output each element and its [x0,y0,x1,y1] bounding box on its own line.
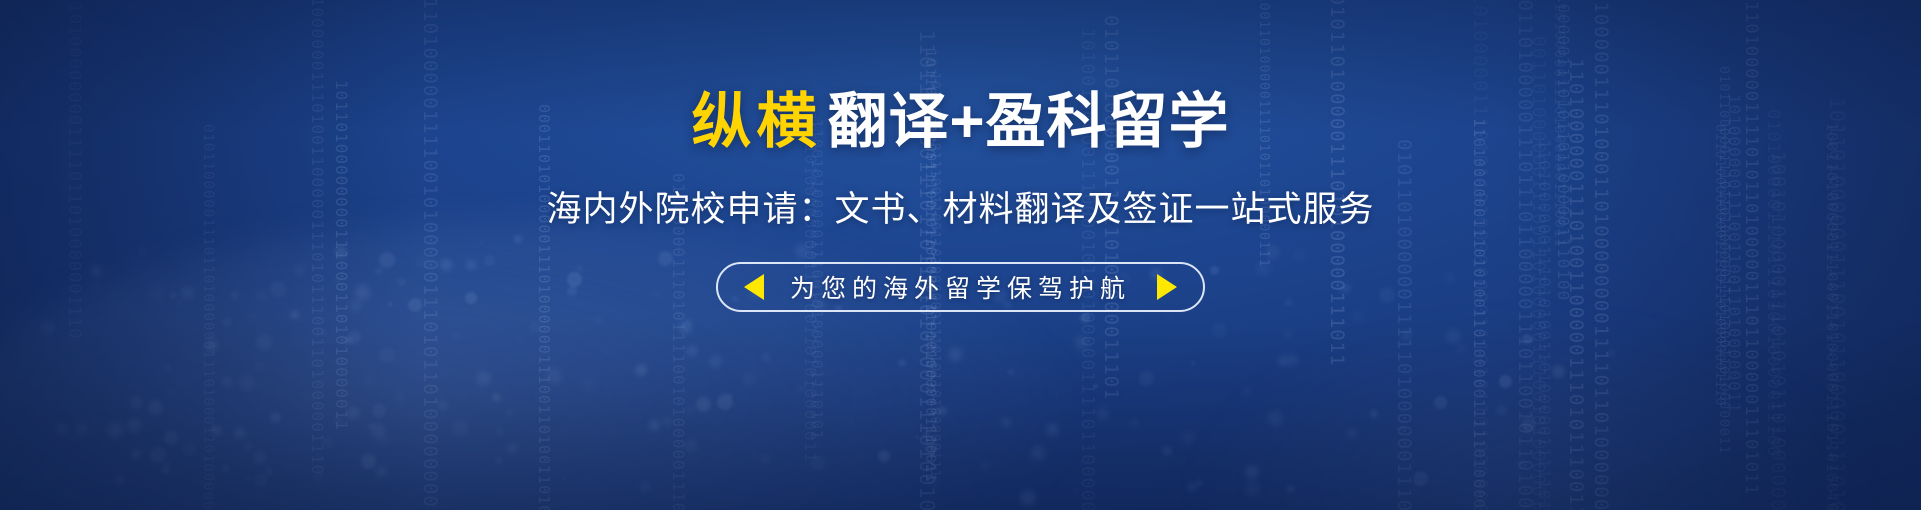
triangle-right-icon [1157,274,1177,300]
banner-headline: 纵横翻译+盈科留学 [691,88,1229,155]
banner-content: 纵横翻译+盈科留学 海内外院校申请：文书、材料翻译及签证一站式服务 为您的海外留… [0,0,1921,510]
headline-rest: 翻译+盈科留学 [827,88,1229,155]
cta-button[interactable]: 为您的海外留学保驾护航 [716,262,1205,312]
promo-banner: 0110100000000111101101000000111010110100… [0,0,1921,510]
headline-brand: 纵横 [691,88,821,155]
cta-button-label: 为您的海外留学保驾护航 [790,269,1131,305]
triangle-left-icon [744,274,764,300]
banner-subheadline: 海内外院校申请：文书、材料翻译及签证一站式服务 [546,181,1374,232]
